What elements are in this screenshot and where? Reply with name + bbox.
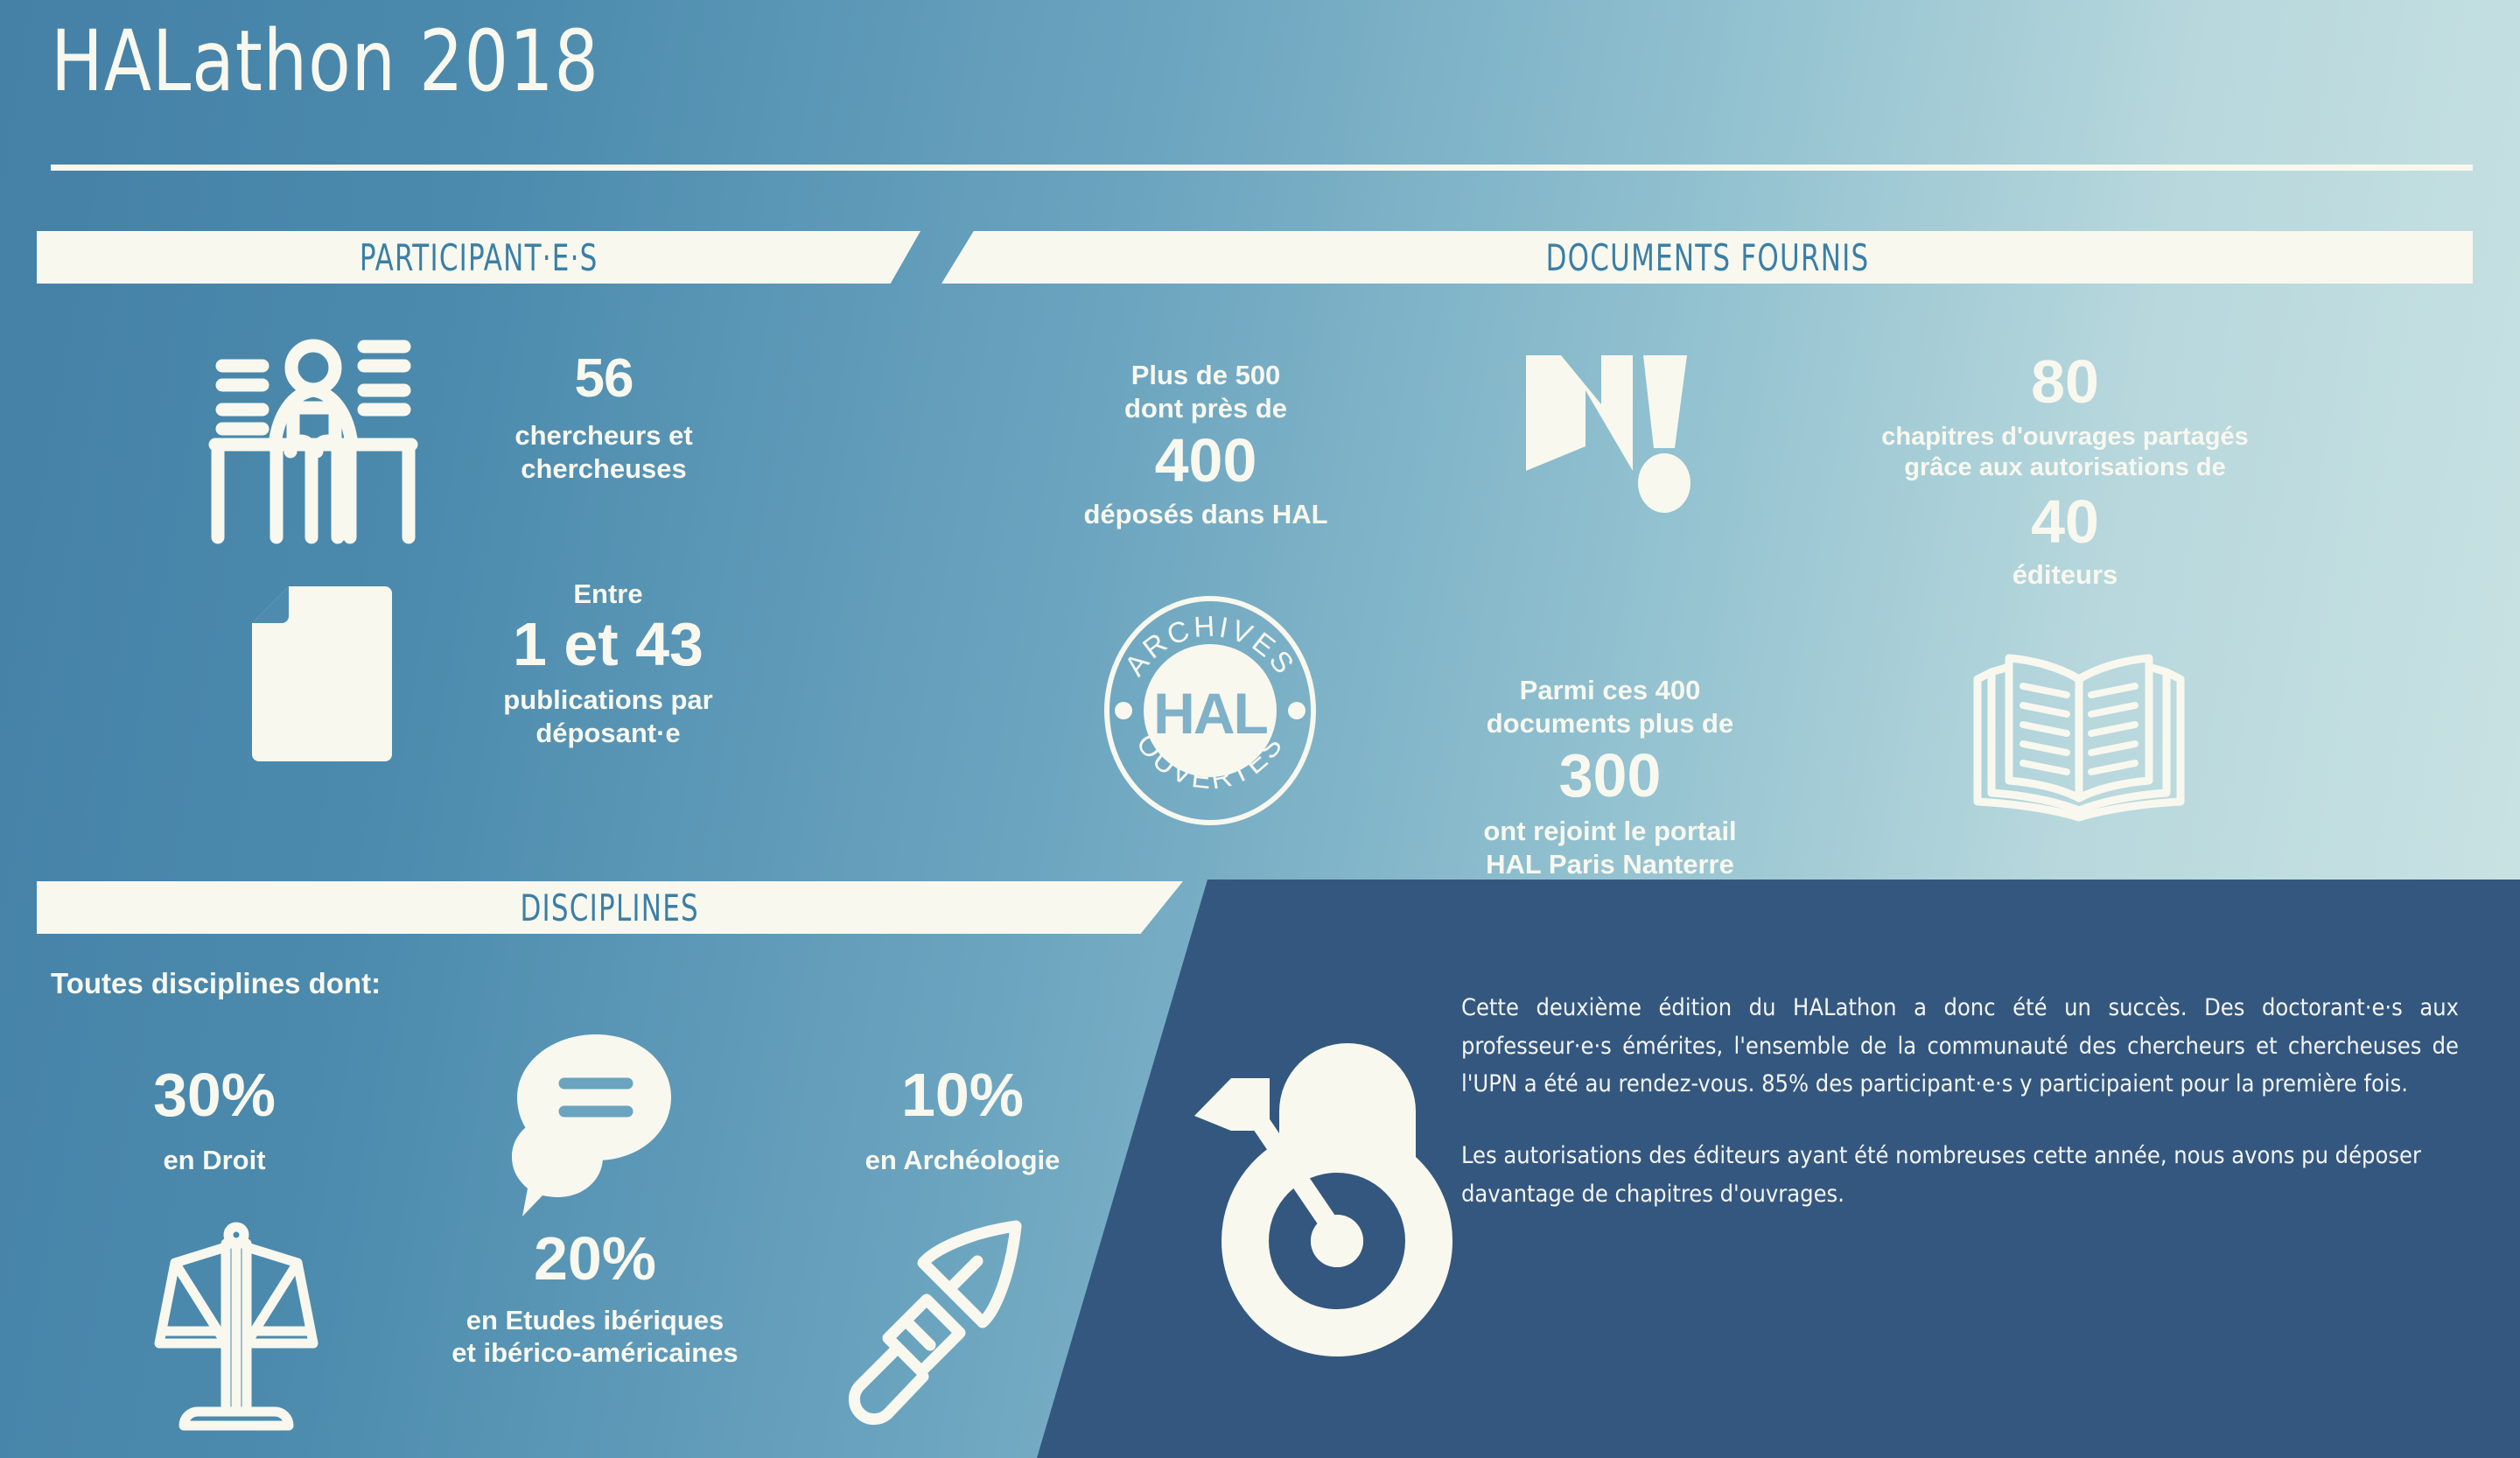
discipline-archeologie: 10% en Archéologie xyxy=(770,1063,1155,1176)
stat-researchers-label-1: chercheurs et xyxy=(464,419,744,452)
stat-deposits: Plus de 500 dont près de 400 déposés dan… xyxy=(1022,359,1389,531)
stat-publications-label-1: publications par xyxy=(437,683,779,717)
stat-portal-number: 300 xyxy=(1409,744,1811,809)
stat-editors-label: éditeurs xyxy=(1776,558,2354,592)
stat-portal-label-4: HAL Paris Nanterre xyxy=(1409,848,1811,881)
trowel-icon xyxy=(836,1221,1037,1422)
conclusion-paragraph-2: Les autorisations des éditeurs ayant été… xyxy=(1461,1137,2459,1213)
discipline-archeologie-percent: 10% xyxy=(770,1063,1155,1128)
section-header-documents: DOCUMENTS FOURNIS xyxy=(941,231,2473,284)
stat-chapters-label-2: grâce aux autorisations de xyxy=(1776,452,2354,483)
discipline-droit: 30% en Droit xyxy=(87,1063,341,1176)
conclusion-paragraph-1: Cette deuxième édition du HALathon a don… xyxy=(1461,989,2459,1104)
document-icon xyxy=(252,586,392,761)
stat-deposits-label-2: dont près de xyxy=(1022,392,1389,425)
discipline-iberiques: 20% en Etudes ibériques et ibérico-améri… xyxy=(376,1227,814,1370)
title-divider xyxy=(51,165,2473,171)
hal-archives-ouvertes-seal-icon: ARCHIVES OUVERTES HAL xyxy=(1101,593,1319,828)
section-header-participants: PARTICIPANT·E·S xyxy=(37,231,920,284)
stat-publications-prefix: Entre xyxy=(437,578,779,611)
scales-of-justice-icon xyxy=(157,1221,315,1441)
stat-chapters: 80 chapitres d'ouvrages partagés grâce a… xyxy=(1776,350,2354,592)
section-header-disciplines-label: DISCIPLINES xyxy=(521,887,699,929)
disciplines-intro-label: Toutes disciplines dont: xyxy=(51,967,663,1000)
speech-bubbles-icon xyxy=(512,1033,675,1222)
disciplines-intro: Toutes disciplines dont: xyxy=(51,967,663,1000)
open-access-padlock-icon xyxy=(1186,1024,1474,1356)
stat-publications-label-2: déposant·e xyxy=(437,717,779,750)
paris-nanterre-n-logo-icon xyxy=(1521,350,1696,525)
stat-researchers-number: 56 xyxy=(464,350,744,409)
stat-deposits-label-3: déposés dans HAL xyxy=(1022,498,1389,531)
conclusion-text: Cette deuxième édition du HALathon a don… xyxy=(1461,989,2459,1214)
discipline-iberiques-label-2: et ibérico-américaines xyxy=(376,1336,814,1370)
open-book-icon xyxy=(1969,648,2189,819)
section-header-disciplines: DISCIPLINES xyxy=(37,881,1183,934)
section-header-documents-label: DOCUMENTS FOURNIS xyxy=(1545,236,1869,279)
researcher-at-desk-icon xyxy=(194,340,432,543)
stat-researchers-label-2: chercheuses xyxy=(464,452,744,486)
stat-chapters-number: 80 xyxy=(1776,350,2354,415)
stat-portal: Parmi ces 400 documents plus de 300 ont … xyxy=(1409,674,1811,881)
stat-researchers: 56 chercheurs et chercheuses xyxy=(464,350,744,486)
discipline-iberiques-percent: 20% xyxy=(376,1227,814,1292)
stat-portal-label-2: documents plus de xyxy=(1409,707,1811,740)
stat-editors-number: 40 xyxy=(1776,490,2354,555)
hal-seal-center-text: HAL xyxy=(1153,681,1267,746)
stat-portal-label-1: Parmi ces 400 xyxy=(1409,674,1811,707)
section-header-participants-label: PARTICIPANT·E·S xyxy=(360,236,598,279)
stat-portal-label-3: ont rejoint le portail xyxy=(1409,815,1811,848)
infographic-canvas: HALathon 2018 PARTICIPANT·E·S DOCUMENTS … xyxy=(0,0,2520,1458)
stat-deposits-number: 400 xyxy=(1022,429,1389,494)
discipline-archeologie-label: en Archéologie xyxy=(770,1144,1155,1177)
stat-deposits-label-1: Plus de 500 xyxy=(1022,359,1389,392)
stat-publications: Entre 1 et 43 publications par déposant·… xyxy=(437,578,779,750)
discipline-droit-percent: 30% xyxy=(87,1063,341,1128)
stat-publications-range: 1 et 43 xyxy=(437,613,779,677)
stat-chapters-label-1: chapitres d'ouvrages partagés xyxy=(1776,422,2354,452)
discipline-iberiques-label-1: en Etudes ibériques xyxy=(376,1304,814,1337)
page-title: HALathon 2018 xyxy=(51,19,599,103)
discipline-droit-label: en Droit xyxy=(87,1144,341,1177)
